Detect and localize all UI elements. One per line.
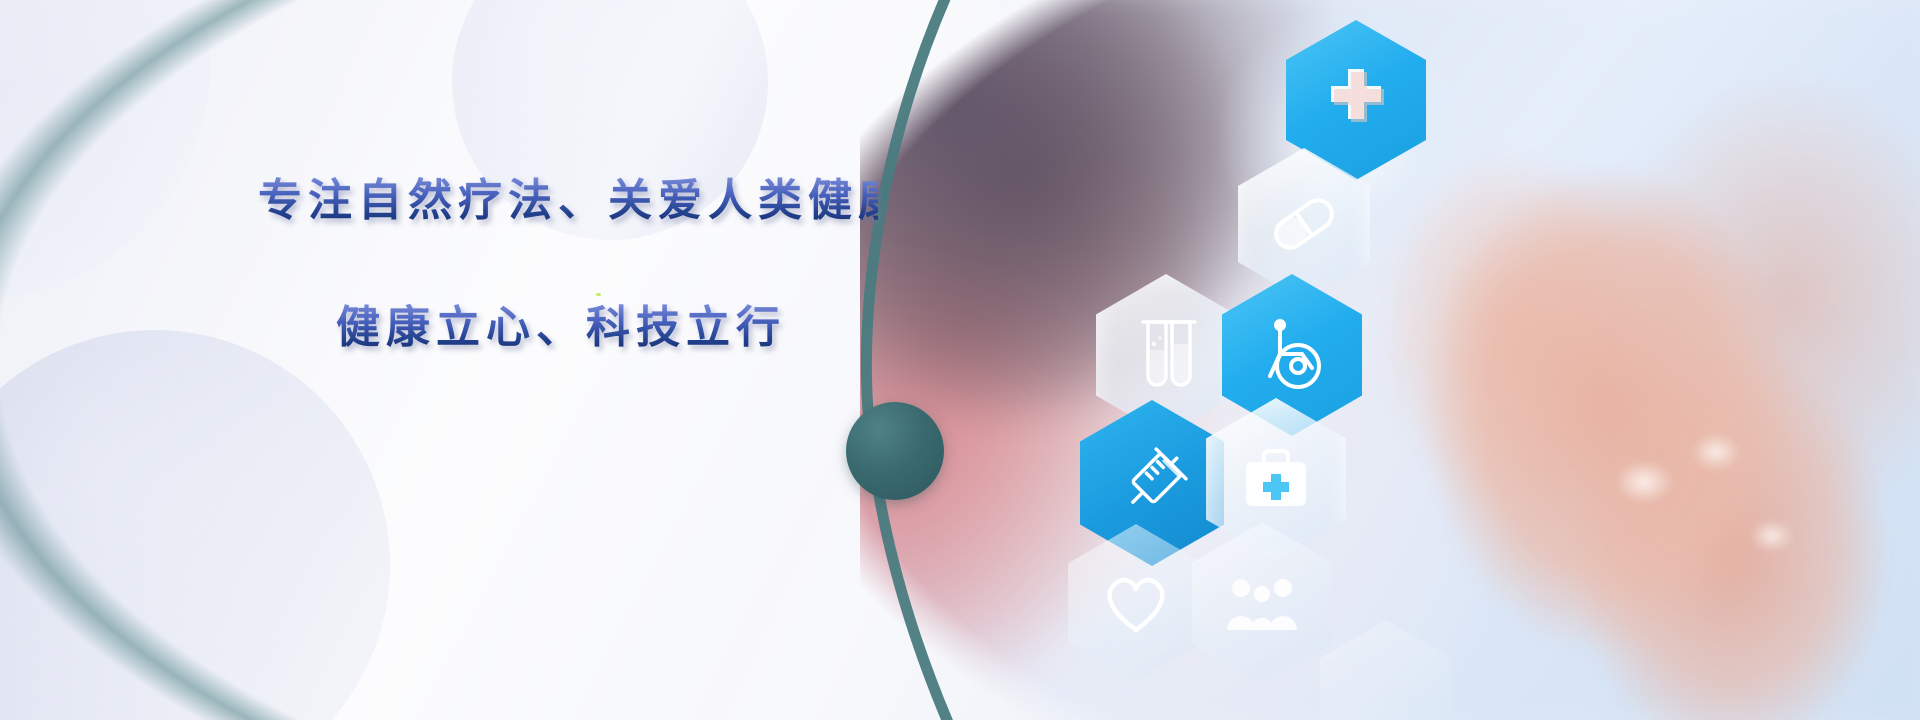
medical-cross-glyph (1319, 63, 1393, 137)
hex-icon-cluster (900, 0, 1540, 720)
wheelchair-glyph (1252, 316, 1332, 394)
hex-decorative-bottom (1320, 620, 1452, 720)
fingernails-highlight (1604, 428, 1824, 628)
decorative-circle-bottom (0, 330, 390, 720)
headline-block: 专注自然疗法、关爱人类健康 健康立心、科技立行 (258, 176, 878, 353)
headline-primary: 专注自然疗法、关爱人类健康 (258, 176, 878, 227)
family-group-glyph (1221, 572, 1303, 634)
capsule-glyph (1265, 193, 1343, 255)
family-group-icon (1192, 522, 1332, 684)
syringe-glyph (1111, 442, 1193, 524)
first-aid-kit-glyph (1238, 444, 1314, 514)
test-tubes-glyph (1130, 314, 1202, 396)
heart-glyph (1100, 570, 1172, 636)
decorative-circle-faint (0, 0, 210, 300)
hero-banner: 专注自然疗法、关爱人类健康 健康立心、科技立行 (0, 0, 1920, 720)
headline-secondary: 健康立心、科技立行 (336, 303, 878, 354)
